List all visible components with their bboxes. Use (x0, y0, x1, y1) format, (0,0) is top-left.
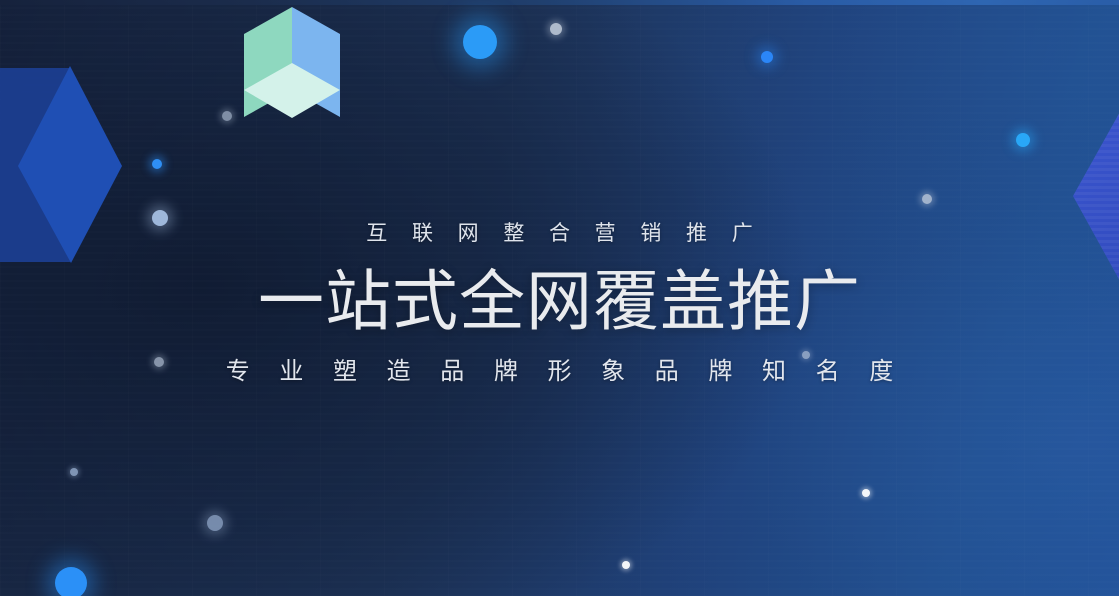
hero-banner: 互 联 网 整 合 营 销 推 广 一站式全网覆盖推广 专 业 塑 造 品 牌 … (0, 0, 1119, 596)
hero-subline: 专 业 塑 造 品 牌 形 象 品 牌 知 名 度 (0, 354, 1119, 388)
hero-headline: 一站式全网覆盖推广 (0, 264, 1119, 340)
hero-copy: 互 联 网 整 合 营 销 推 广 一站式全网覆盖推广 专 业 塑 造 品 牌 … (0, 218, 1119, 388)
hero-eyebrow: 互 联 网 整 合 营 销 推 广 (0, 218, 1119, 248)
top-edge-highlight-strip (0, 0, 1119, 5)
